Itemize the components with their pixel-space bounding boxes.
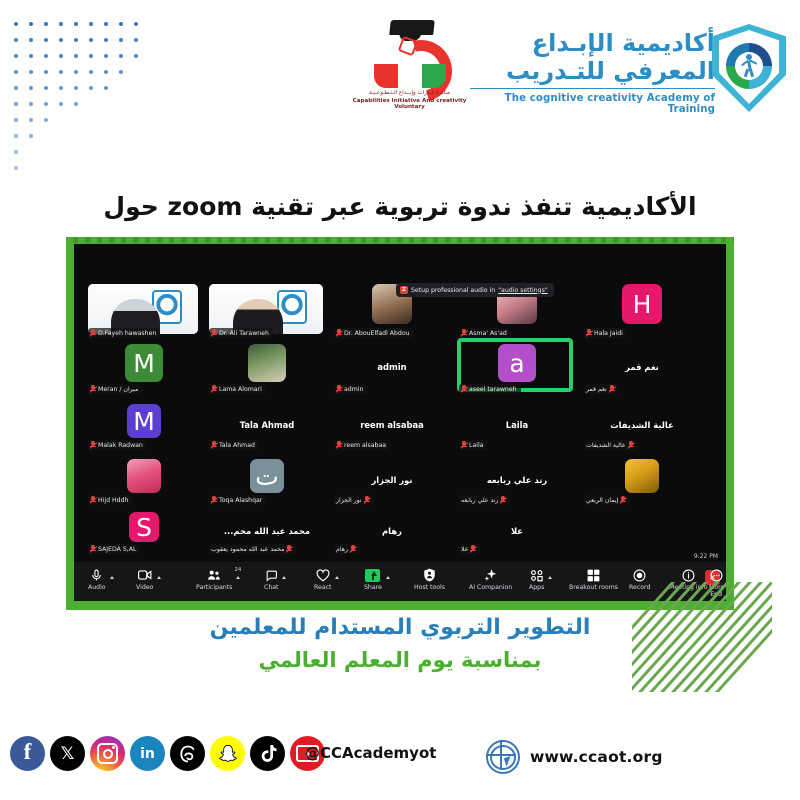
mic-muted-icon [470,545,476,553]
mic-muted-icon [609,385,615,393]
participant-name-label: Tala Ahmad [209,440,259,450]
zoom-logo-icon: Z [400,286,408,294]
dot [14,118,18,122]
mic-muted-icon [620,496,626,504]
dot [14,166,18,170]
toolbar-button-label: React [314,584,331,591]
participant-name-text: Tala Ahmad [219,442,255,449]
apps-icon [530,568,544,582]
participant-name-label: Dr. Ali Tarawneh [209,328,273,338]
participant-tile[interactable]: عالية الشديفاتعالية الشديفات [582,404,702,452]
social-icons-row: f𝕏in [10,736,325,771]
x-twitter-icon[interactable]: 𝕏 [50,736,85,771]
mic-muted-icon [500,496,506,504]
capabilities-logo-mark [372,16,448,88]
meeting-clock: 9:22 PM [694,553,718,560]
toolbar-react-button[interactable]: React [314,568,331,591]
participant-tile[interactable]: MMalak Radwan [86,404,202,452]
participant-name-label: Toqa Alashqar [209,495,266,505]
mic-muted-icon [336,441,342,449]
participant-tile[interactable]: SSAJEDA S,AL [86,512,202,556]
participant-tile[interactable]: رند علي ربابعهرند علي ربابعه [457,459,577,507]
participant-name-label: Asma' As'ad [459,328,511,338]
toolbar-button-label: Audio [88,584,106,591]
participant-name-label: aseel tarawneh [459,384,521,394]
participant-name-text: Dr. AbouElfadl Abdou [344,330,410,337]
zoom-screenshot-frame: D.Fayeh hawashenDr. Ali TarawnehDr. Abou… [66,237,734,610]
heart-icon [316,568,330,582]
participant-name-label: علا [459,544,480,554]
chevron-up-icon[interactable] [548,576,552,579]
participant-display-name: عالية الشديفات [582,420,702,430]
participant-name-label: Hala Jaidi [584,328,627,338]
participant-name-label: إيمان الربعي [584,495,630,505]
participant-tile[interactable]: MMeran / ميران [86,344,202,396]
red-quarter-shape [374,64,398,88]
sparkle-icon [484,568,498,582]
toolbar-button-label: Host tools [414,584,445,591]
participant-name-label: محمد عبد الله محمود يعقوب [209,544,296,554]
participant-avatar-initial: M [125,344,163,382]
academy-name-english: The cognitive creativity Academy of Trai… [470,93,715,115]
toolbar-audio-button[interactable]: Audio [88,568,106,591]
participant-name-text: Toqa Alashqar [219,497,262,504]
mic-muted-icon [90,385,96,393]
toolbar-apps-button[interactable]: Apps [529,568,544,591]
participant-name-text: Dr. Ali Tarawneh [219,330,269,337]
participant-display-name: علا [457,526,577,536]
participant-display-name: محمد عبد الله محم... [207,526,327,536]
participant-name-label: نور الجزار [334,495,374,505]
participant-name-label: Meran / ميران [88,384,142,394]
toolbar-button-label: AI Companion [469,584,512,591]
toolbar-host-tools-button[interactable]: Host tools [414,568,445,591]
person-figure-icon [743,54,755,76]
participant-display-name: admin [332,362,452,372]
participant-tile[interactable]: نغم قمرنغم قمر [582,344,702,396]
participant-display-name: رهام [332,526,452,536]
mic-muted-icon [211,385,217,393]
participant-name-text: Hala Jaidi [594,330,623,337]
participant-name-label: رهام [334,544,360,554]
participant-name-label: عالية الشديفات [584,440,638,450]
toolbar-chat-button[interactable]: Chat [264,568,278,591]
participant-tile[interactable]: D.Fayeh hawashen [86,284,202,340]
toolbar-button-label: Share [364,584,382,591]
participant-name-text: SAJEDA S,AL [98,546,136,553]
toolbar-breakout-rooms-button[interactable]: Breakout rooms [569,568,618,591]
instagram-icon[interactable] [90,736,125,771]
participant-name-text: admin [344,386,363,393]
shield-host-icon [423,568,436,582]
participant-name-text: Hijd Hddh [98,497,128,504]
microphone-icon [90,568,103,582]
participant-name-text: D.Fayeh hawashen [98,330,156,337]
linkedin-icon[interactable]: in [130,736,165,771]
mic-muted-icon [461,329,467,337]
tooltip-link[interactable]: "audio settings" [498,287,547,294]
facebook-icon[interactable]: f [10,736,45,771]
chevron-up-icon[interactable] [282,576,286,579]
participant-tile[interactable]: إيمان الربعي [582,459,702,507]
participant-tile[interactable]: تToqa Alashqar [207,459,327,507]
participant-name-text: Meran / ميران [98,386,138,393]
tiktok-icon[interactable] [250,736,285,771]
participant-tile[interactable]: adminadmin [332,344,452,396]
capabilities-english-caption: Capabilities Initiative And creativity V… [352,98,467,110]
participant-name-text: Lama Alomari [219,386,262,393]
participant-tile[interactable]: HHala Jaidi [582,284,702,340]
toolbar-button-label: Apps [529,584,544,591]
academy-brand: أكاديمية الإبـداع المعرفي للتـدريب The c… [470,30,715,115]
mic-muted-icon [628,441,634,449]
participant-name-text: نور الجزار [336,497,362,504]
poster-canvas: مبادرة قـدرات وإبــداع الـتـطـوعـيـة Cap… [0,0,800,800]
dot [29,118,33,122]
camera-icon [138,568,152,582]
mic-muted-icon [461,441,467,449]
participant-name-text: Laila [469,442,483,449]
participant-display-name: رند علي ربابعه [457,475,577,485]
participant-name-text: عالية الشديفات [586,442,626,449]
mic-muted-icon [364,496,370,504]
poster-footer: f𝕏in @CCAcademyot www.ccaot.org [0,736,800,782]
participant-video [88,284,198,334]
globe-icon [486,740,520,774]
participant-display-name: Tala Ahmad [207,420,327,430]
participant-tile[interactable]: محمد عبد الله محم...محمد عبد الله محمود … [207,512,327,556]
website-block[interactable]: www.ccaot.org [486,740,663,774]
mic-muted-icon [286,545,292,553]
info-icon [682,568,695,582]
participant-avatar-initial: M [127,404,161,438]
threads-icon[interactable] [170,736,205,771]
participant-tile[interactable]: Hijd Hddh [86,459,202,507]
participant-name-text: reem alsabaa [344,442,386,449]
mic-muted-icon [90,496,96,504]
participant-photo [248,344,286,382]
participant-avatar-initial: S [129,512,159,542]
toolbar-ai-companion-button[interactable]: AI Companion [469,568,512,591]
participant-tile[interactable]: Dr. Ali Tarawneh [207,284,327,340]
capabilities-arabic-caption: مبادرة قـدرات وإبــداع الـتـطـوعـيـة [352,90,467,96]
dot [29,134,33,138]
participant-name-label: D.Fayeh hawashen [88,328,160,338]
chevron-up-icon[interactable] [157,576,161,579]
toolbar-video-button[interactable]: Video [136,568,153,591]
toolbar-button-label: Breakout rooms [569,584,618,591]
participant-display-name: reem alsabaa [332,420,452,430]
dot [14,134,18,138]
participant-photo [625,459,659,493]
participant-name-label: نغم قمر [584,384,619,394]
tooltip-text: Setup professional audio in [411,287,495,294]
participant-name-label: SAJEDA S,AL [88,544,140,554]
participant-name-label: Hijd Hddh [88,495,132,505]
capabilities-initiative-logo: مبادرة قـدرات وإبــداع الـتـطـوعـيـة Cap… [352,16,467,116]
toolbar-button-label: Participants [196,584,232,591]
academy-name-arabic: أكاديمية الإبـداع المعرفي للتـدريب [470,30,715,89]
people-icon [207,568,221,582]
participant-name-text: aseel tarawneh [469,386,517,393]
participant-tile[interactable]: رهامرهام [332,512,452,556]
grid-squares-icon [587,568,600,582]
chat-bubble-icon [265,568,278,582]
record-icon [633,568,646,582]
participant-name-text: رهام [336,546,348,553]
participant-tile[interactable]: علاعلا [457,512,577,556]
participant-name-label: Malak Radwan [88,440,147,450]
participant-tile[interactable]: Tala AhmadTala Ahmad [207,404,327,452]
audio-settings-tooltip: Z Setup professional audio in "audio set… [396,283,554,297]
zoom-meeting-window: D.Fayeh hawashenDr. Ali TarawnehDr. Abou… [74,244,726,601]
mic-muted-icon [336,329,342,337]
mic-muted-icon [90,441,96,449]
participant-avatar-initial: H [622,284,662,324]
participant-tile[interactable]: reem alsabaareem alsabaa [332,404,452,452]
poster-header: مبادرة قـدرات وإبــداع الـتـطـوعـيـة Cap… [0,8,800,118]
toolbar-share-button[interactable]: Share [364,568,382,591]
participant-name-text: رند علي ربابعه [461,497,498,504]
chevron-up-icon[interactable] [386,576,390,579]
mic-muted-icon [211,441,217,449]
participant-name-label: رند علي ربابعه [459,495,510,505]
dot [14,150,18,154]
share-screen-icon [365,568,380,582]
mic-muted-icon [90,329,96,337]
participants-count-badge: 24 [235,567,242,573]
mic-muted-icon [90,545,96,553]
mic-muted-icon [211,329,217,337]
chevron-up-icon[interactable] [110,576,114,579]
ellipsis-icon [710,568,723,582]
participant-name-text: علا [461,546,468,553]
participant-video [209,284,323,334]
participant-display-name: نور الجزار [332,475,452,485]
mic-muted-icon [350,545,356,553]
participant-name-text: إيمان الربعي [586,497,618,504]
participant-name-label: reem alsabaa [334,440,390,450]
participant-tile[interactable]: Lama Alomari [207,344,327,396]
green-quarter-shape [422,64,446,88]
participant-display-name: Laila [457,420,577,430]
participant-name-label: admin [334,384,367,394]
participant-photo [127,459,161,493]
toolbar-button-label: Video [136,584,153,591]
participant-name-text: Malak Radwan [98,442,143,449]
participant-name-label: Lama Alomari [209,384,266,394]
participant-tile[interactable]: نور الجزارنور الجزار [332,459,452,507]
participant-display-name: نغم قمر [582,362,702,372]
graduation-cap-icon [389,20,435,35]
participant-tile[interactable]: aaseel tarawneh [457,344,577,396]
cca-shield-logo [712,24,786,112]
mic-muted-icon [336,385,342,393]
zoom-toolbar[interactable]: ✕ End AudioVideoParticipants24ChatReactS… [74,562,726,601]
social-handle: @CCAcademyot [305,744,436,762]
dot [44,118,48,122]
decorative-diagonal-stripes [632,582,772,692]
participant-name-label: Laila [459,440,487,450]
participant-tile[interactable]: LailaLaila [457,404,577,452]
website-url: www.ccaot.org [530,748,663,766]
mic-muted-icon [461,385,467,393]
participant-name-label: Dr. AbouElfadl Abdou [334,328,414,338]
participant-avatar-initial: ت [250,459,284,493]
participant-name-text: محمد عبد الله محمود يعقوب [211,546,284,553]
chevron-up-icon[interactable] [236,576,240,579]
mic-muted-icon [211,496,217,504]
participant-name-text: نغم قمر [586,386,607,393]
participant-name-text: Asma' As'ad [469,330,507,337]
snapchat-icon[interactable] [210,736,245,771]
chevron-up-icon[interactable] [335,576,339,579]
toolbar-participants-button[interactable]: Participants24 [196,568,232,591]
page-title: الأكاديمية تنفذ ندوة تربوية عبر تقنية zo… [0,192,800,221]
toolbar-button-label: Chat [264,584,278,591]
mic-muted-icon [586,329,592,337]
